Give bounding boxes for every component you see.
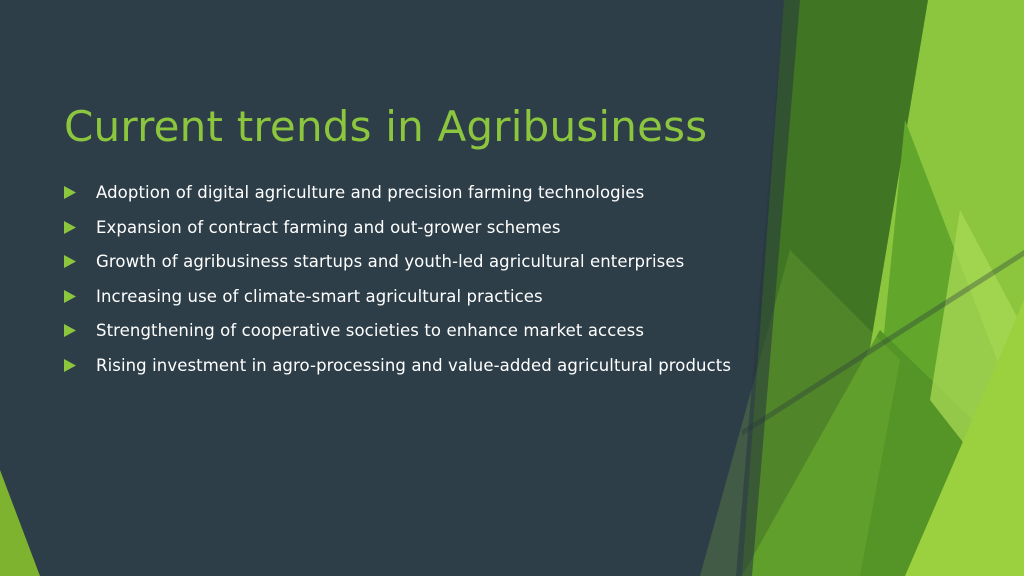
list-item-label: Growth of agribusiness startups and yout… xyxy=(96,251,784,272)
list-item-label: Expansion of contract farming and out-gr… xyxy=(96,217,784,238)
list-item-label: Strengthening of cooperative societies t… xyxy=(96,320,784,341)
triangle-right-icon xyxy=(64,221,76,234)
list-item: Rising investment in agro-processing and… xyxy=(64,355,784,380)
presentation-slide: Current trends in Agribusiness Adoption … xyxy=(0,0,1024,576)
triangle-right-icon xyxy=(64,290,76,303)
list-item: Expansion of contract farming and out-gr… xyxy=(64,217,784,242)
list-item-label: Adoption of digital agriculture and prec… xyxy=(96,182,784,203)
slide-title: Current trends in Agribusiness xyxy=(64,102,707,151)
bullet-list: Adoption of digital agriculture and prec… xyxy=(64,182,784,389)
list-item: Strengthening of cooperative societies t… xyxy=(64,320,784,345)
list-item: Growth of agribusiness startups and yout… xyxy=(64,251,784,276)
list-item-label: Rising investment in agro-processing and… xyxy=(96,355,784,376)
list-item: Adoption of digital agriculture and prec… xyxy=(64,182,784,207)
triangle-right-icon xyxy=(64,186,76,199)
triangle-right-icon xyxy=(64,359,76,372)
list-item: Increasing use of climate-smart agricult… xyxy=(64,286,784,311)
triangle-right-icon xyxy=(64,255,76,268)
slide-content: Current trends in Agribusiness Adoption … xyxy=(0,0,1024,576)
triangle-right-icon xyxy=(64,324,76,337)
list-item-label: Increasing use of climate-smart agricult… xyxy=(96,286,784,307)
